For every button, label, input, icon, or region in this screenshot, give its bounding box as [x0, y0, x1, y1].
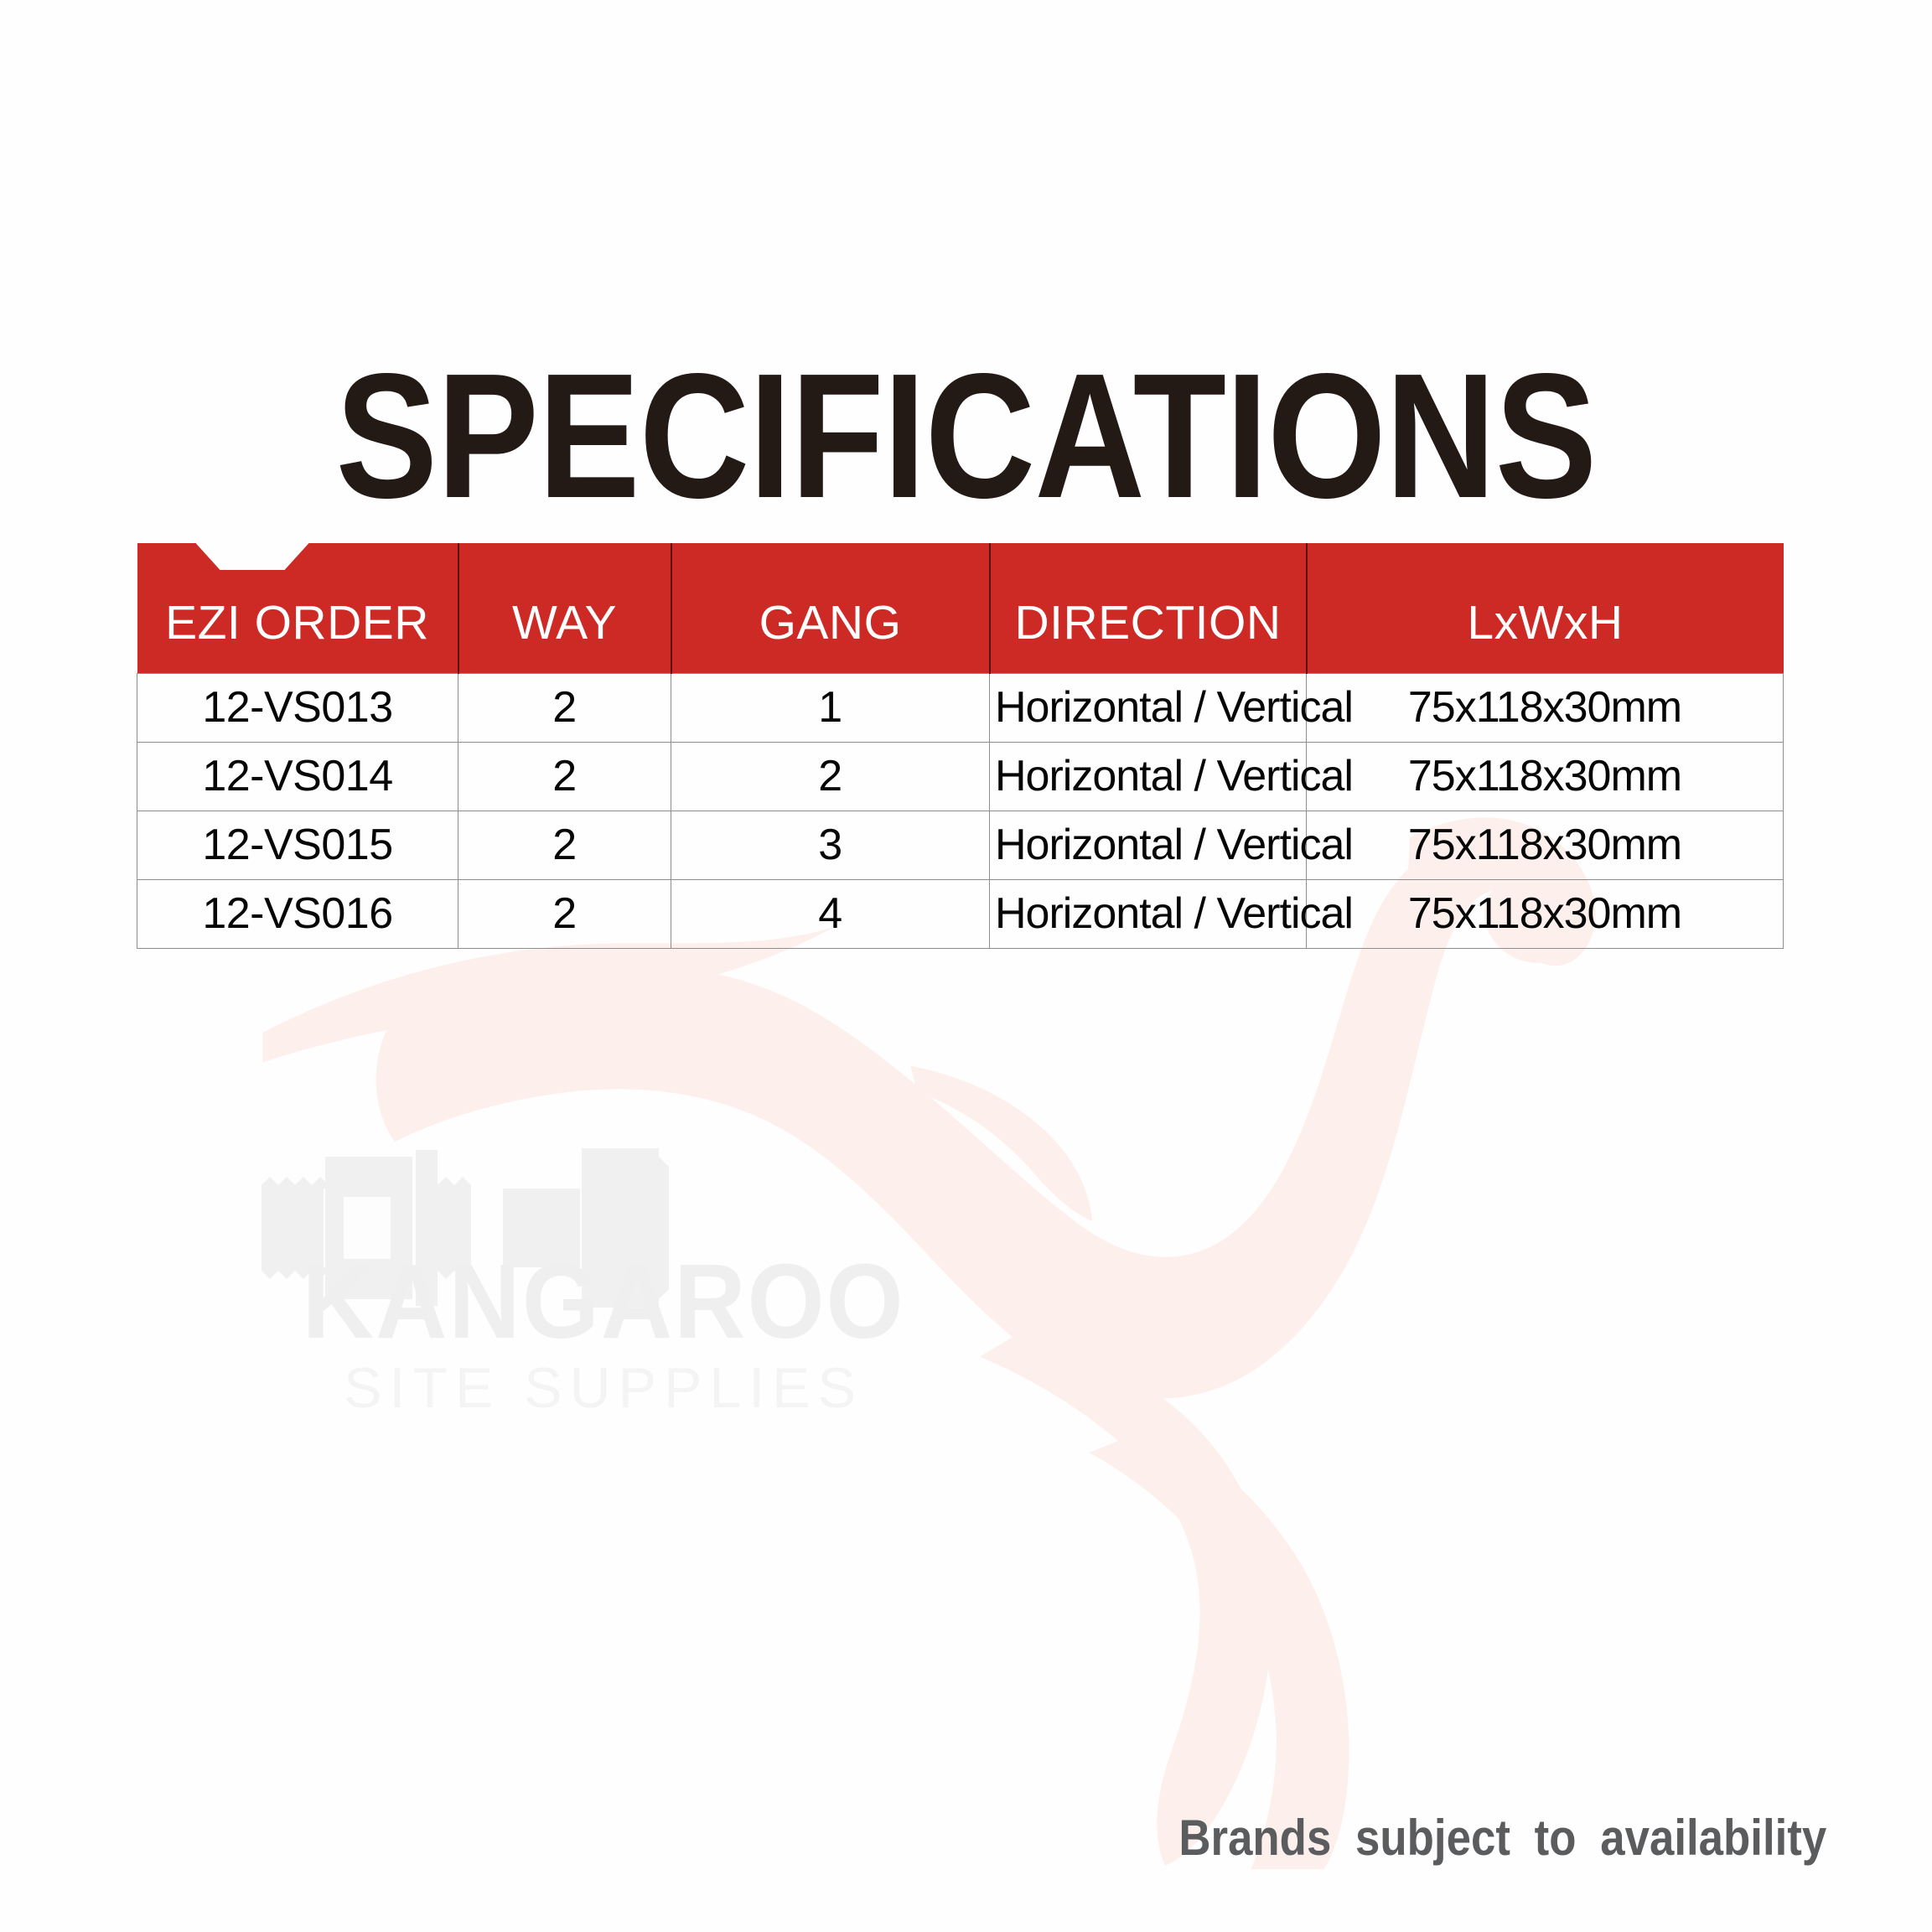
table-header: EZI ORDER WAY GANG DIRECTION LxWxH [137, 543, 1784, 673]
column-header-dimensions: LxWxH [1307, 543, 1784, 673]
column-header-way: WAY [458, 543, 671, 673]
page-title: SPECIFICATIONS [135, 347, 1796, 525]
cell-direction: Horizontal / Vertical [990, 673, 1307, 742]
table-row: 12-VS013 2 1 Horizontal / Vertical 75x11… [137, 673, 1784, 742]
table-row: 12-VS014 2 2 Horizontal / Vertical 75x11… [137, 742, 1784, 811]
cell-ezi-order: 12-VS015 [137, 811, 458, 879]
table-row: 12-VS015 2 3 Horizontal / Vertical 75x11… [137, 811, 1784, 879]
cell-direction: Horizontal / Vertical [990, 742, 1307, 811]
cell-gang: 4 [671, 879, 990, 948]
cell-ezi-order: 12-VS013 [137, 673, 458, 742]
table-body: 12-VS013 2 1 Horizontal / Vertical 75x11… [137, 673, 1784, 948]
brand-tagline: SITE SUPPLIES [226, 1360, 981, 1417]
column-header-ezi-order: EZI ORDER [137, 543, 458, 673]
column-header-way-label: WAY [459, 565, 671, 650]
bolt-watermark-icon [251, 1090, 855, 1366]
column-header-direction: DIRECTION [990, 543, 1307, 673]
footer-disclaimer: Brands subject to availability [1178, 1809, 1826, 1867]
brand-name: KANGAROO [249, 1249, 958, 1354]
cell-direction: Horizontal / Vertical [990, 879, 1307, 948]
cell-dimensions: 75x118x30mm [1307, 811, 1784, 879]
column-header-gang-label: GANG [672, 565, 989, 650]
cell-ezi-order: 12-VS016 [137, 879, 458, 948]
column-header-direction-label: DIRECTION [991, 565, 1306, 650]
cell-way: 2 [458, 673, 671, 742]
cell-gang: 3 [671, 811, 990, 879]
cell-gang: 1 [671, 673, 990, 742]
column-header-ezi-order-label: EZI ORDER [137, 565, 458, 650]
cell-way: 2 [458, 742, 671, 811]
cell-direction: Horizontal / Vertical [990, 811, 1307, 879]
specifications-table: EZI ORDER WAY GANG DIRECTION LxWxH 12-VS… [137, 543, 1784, 949]
cell-dimensions: 75x118x30mm [1307, 673, 1784, 742]
brand-wordmark: KANGAROO SITE SUPPLIES [226, 1249, 981, 1417]
cell-dimensions: 75x118x30mm [1307, 879, 1784, 948]
cell-way: 2 [458, 879, 671, 948]
cell-dimensions: 75x118x30mm [1307, 742, 1784, 811]
watermark-layer: KANGAROO SITE SUPPLIES [0, 0, 1932, 1932]
column-header-dimensions-label: LxWxH [1308, 565, 1784, 650]
table-header-row: EZI ORDER WAY GANG DIRECTION LxWxH [137, 543, 1784, 673]
table-row: 12-VS016 2 4 Horizontal / Vertical 75x11… [137, 879, 1784, 948]
column-header-gang: GANG [671, 543, 990, 673]
cell-ezi-order: 12-VS014 [137, 742, 458, 811]
cell-gang: 2 [671, 742, 990, 811]
cell-way: 2 [458, 811, 671, 879]
specifications-table-container: EZI ORDER WAY GANG DIRECTION LxWxH 12-VS… [137, 543, 1783, 949]
